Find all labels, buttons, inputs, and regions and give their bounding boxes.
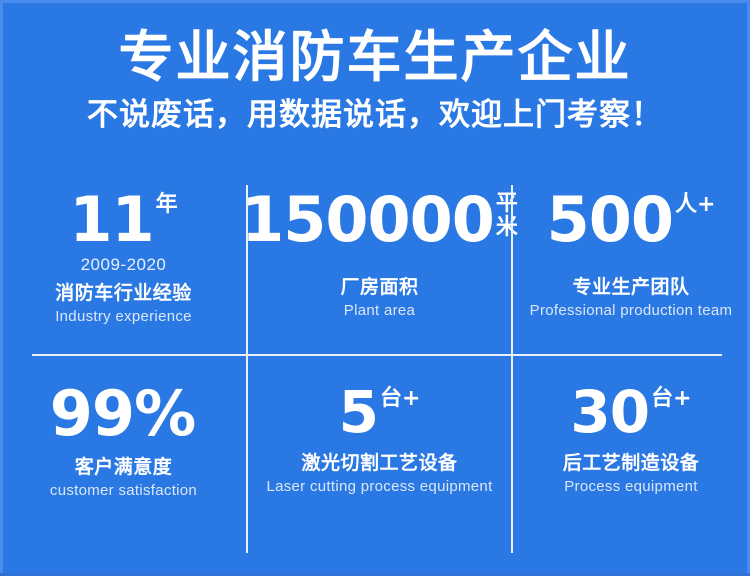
stat-label-en: Laser cutting process equipment bbox=[266, 477, 492, 497]
stat-number: 11 bbox=[69, 189, 153, 251]
page-title: 专业消防车生产企业 bbox=[0, 0, 750, 88]
stat-number: 30 bbox=[570, 383, 649, 441]
stats-grid: 11 年 2009-2020 消防车行业经验 Industry experien… bbox=[0, 175, 750, 565]
stat-number: 500 bbox=[547, 189, 673, 251]
stat-unit: 年 bbox=[156, 189, 178, 216]
stat-unit: 台+ bbox=[651, 383, 691, 410]
stat-number: 99% bbox=[50, 383, 195, 445]
stat-year-range: 2009-2020 bbox=[81, 255, 167, 275]
stat-label-en: Process equipment bbox=[564, 477, 698, 497]
stat-cell-customer-satisfaction: 99% 客户满意度 customer satisfaction bbox=[0, 355, 247, 565]
stat-label-cn: 厂房面积 bbox=[340, 275, 418, 299]
horizontal-divider bbox=[32, 354, 722, 356]
stat-cell-laser-cutting-equipment: 5 台+ 激光切割工艺设备 Laser cutting process equi… bbox=[247, 355, 512, 565]
stat-label-cn: 专业生产团队 bbox=[572, 275, 689, 299]
stat-number: 5 bbox=[339, 383, 378, 441]
page-subtitle: 不说废话，用数据说话，欢迎上门考察！ bbox=[0, 88, 750, 134]
vertical-divider-right bbox=[511, 185, 513, 553]
banner-header: 专业消防车生产企业 不说废话，用数据说话，欢迎上门考察！ bbox=[0, 0, 750, 134]
stat-label-en: customer satisfaction bbox=[50, 481, 197, 501]
stat-figure: 99% bbox=[50, 383, 197, 445]
stat-figure: 30 台+ bbox=[570, 383, 691, 441]
stat-unit: 台+ bbox=[380, 383, 420, 410]
stat-number: 150000 bbox=[241, 189, 494, 251]
stat-label-en: Industry experience bbox=[55, 307, 192, 327]
stat-label-cn: 客户满意度 bbox=[75, 455, 173, 479]
stat-cell-production-team: 500 人+ 专业生产团队 Professional production te… bbox=[512, 175, 750, 355]
stat-figure: 11 年 bbox=[69, 189, 177, 251]
stat-label-cn: 激光切割工艺设备 bbox=[301, 451, 457, 475]
stat-label-en: Plant area bbox=[344, 301, 415, 321]
stat-figure: 500 人+ bbox=[547, 189, 716, 251]
stat-label-en: Professional production team bbox=[530, 301, 733, 321]
stat-cell-process-equipment: 30 台+ 后工艺制造设备 Process equipment bbox=[512, 355, 750, 565]
stat-cell-industry-experience: 11 年 2009-2020 消防车行业经验 Industry experien… bbox=[0, 175, 247, 355]
stat-unit: 人+ bbox=[675, 189, 715, 216]
stat-label-cn: 消防车行业经验 bbox=[55, 281, 192, 305]
vertical-divider-left bbox=[246, 185, 248, 553]
stat-label-cn: 后工艺制造设备 bbox=[563, 451, 700, 475]
stat-cell-plant-area: 150000 平 米 厂房面积 Plant area bbox=[247, 175, 512, 355]
promo-banner: 专业消防车生产企业 不说废话，用数据说话，欢迎上门考察！ 11 年 2009-2… bbox=[0, 0, 750, 576]
stat-figure: 5 台+ bbox=[339, 383, 421, 441]
stat-figure: 150000 平 米 bbox=[241, 189, 518, 251]
